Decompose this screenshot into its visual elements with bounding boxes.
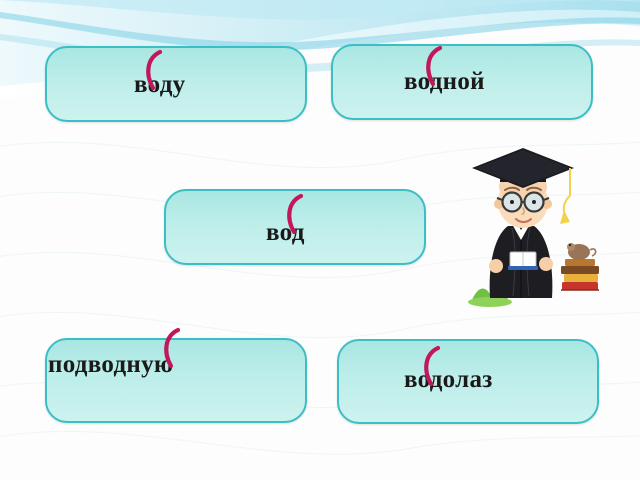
word-label-podvodnuyu: подводную bbox=[48, 351, 173, 379]
slide-canvas: воду водной вод подводную водолаз bbox=[0, 0, 640, 480]
word-label-vodolaz: водолаз bbox=[404, 366, 493, 394]
mouse-icon bbox=[567, 243, 596, 260]
word-label-vodu: воду bbox=[134, 71, 185, 99]
graduate-boy-illustration bbox=[466, 140, 606, 315]
held-book-icon bbox=[508, 252, 538, 270]
books-icon bbox=[561, 259, 599, 290]
word-label-vod: вод bbox=[266, 219, 305, 247]
word-label-vodnoy: водной bbox=[404, 68, 485, 96]
